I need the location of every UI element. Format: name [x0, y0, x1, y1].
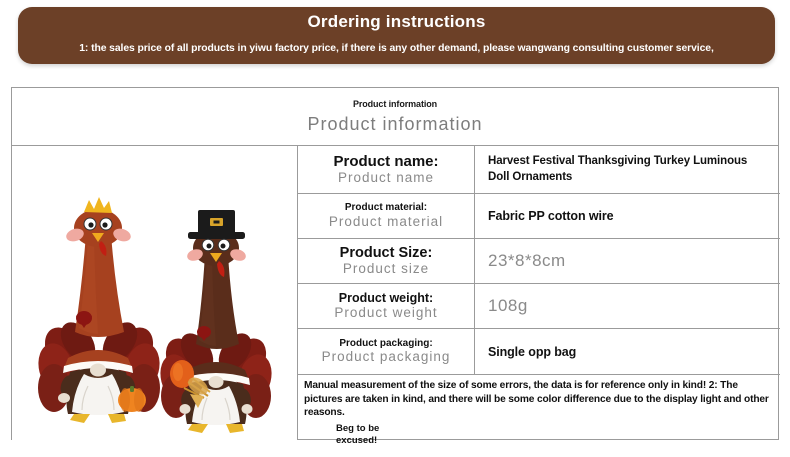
label-secondary: Product weight [334, 305, 437, 321]
row-value-cell: Harvest Festival Thanksgiving Turkey Lum… [475, 146, 780, 193]
row-value-cell: 23*8*8cm [475, 239, 780, 283]
table-body: Product name: Product name Harvest Festi… [12, 146, 778, 440]
ordering-instructions-banner: Ordering instructions 1: the sales price… [18, 7, 775, 64]
table-row-product-material: Product material: Product material Fabri… [298, 194, 780, 239]
value-product-packaging: Single opp bag [488, 345, 576, 359]
product-attribute-rows: Product name: Product name Harvest Festi… [298, 146, 780, 440]
disclaimer-text: Manual measurement of the size of some e… [304, 379, 772, 420]
row-label-product-weight: Product weight: Product weight [298, 284, 475, 328]
table-header-large-title: Product information [12, 114, 778, 135]
product-information-table: Product information Product information [11, 87, 779, 440]
table-header-small-title: Product information [12, 99, 778, 109]
value-product-name: Harvest Festival Thanksgiving Turkey Lum… [488, 154, 770, 185]
banner-instruction-line: 1: the sales price of all products in yi… [22, 42, 771, 54]
table-header: Product information Product information [12, 88, 778, 146]
label-primary: Product Size: [340, 245, 433, 262]
disclaimer-apology-text: Beg to be excused! [336, 423, 772, 448]
value-product-weight: 108g [488, 296, 528, 316]
table-row-product-weight: Product weight: Product weight 108g [298, 284, 780, 329]
product-photo [12, 146, 298, 440]
value-product-size: 23*8*8cm [488, 251, 566, 271]
label-secondary: Product name [338, 170, 434, 186]
value-product-material: Fabric PP cotton wire [488, 209, 613, 223]
table-row-product-name: Product name: Product name Harvest Festi… [298, 146, 780, 194]
row-label-product-material: Product material: Product material [298, 194, 475, 238]
label-primary: Product material: [345, 202, 427, 214]
label-secondary: Product material [329, 214, 443, 230]
table-row-disclaimer: Manual measurement of the size of some e… [298, 375, 780, 440]
label-primary: Product weight: [339, 291, 433, 305]
table-row-product-size: Product Size: Product size 23*8*8cm [298, 239, 780, 284]
row-label-product-packaging: Product packaging: Product packaging [298, 329, 475, 374]
row-value-cell: Fabric PP cotton wire [475, 194, 780, 238]
label-primary: Product name: [333, 153, 438, 170]
row-label-product-name: Product name: Product name [298, 146, 475, 193]
row-label-product-size: Product Size: Product size [298, 239, 475, 283]
label-primary: Product packaging: [339, 338, 432, 350]
product-image-cell [12, 146, 298, 440]
table-row-product-packaging: Product packaging: Product packaging Sin… [298, 329, 780, 375]
banner-title: Ordering instructions [18, 12, 775, 32]
row-value-cell: Single opp bag [475, 329, 780, 374]
row-value-cell: 108g [475, 284, 780, 328]
label-secondary: Product size [343, 261, 429, 277]
label-secondary: Product packaging [322, 349, 451, 365]
